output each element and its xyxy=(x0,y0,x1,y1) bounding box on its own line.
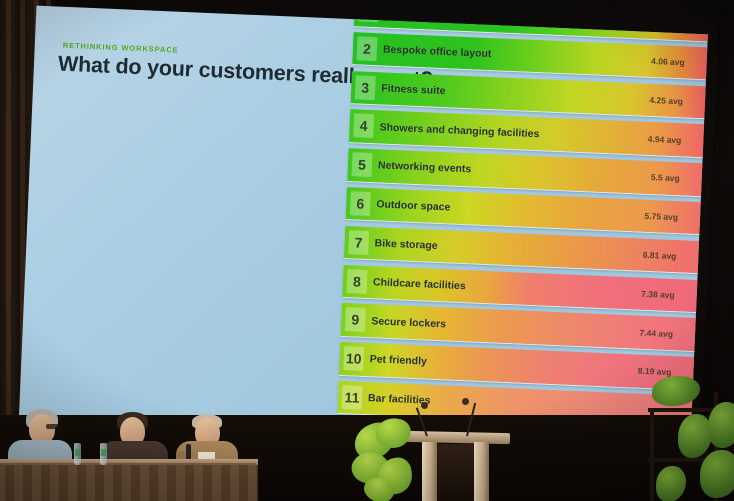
bar-category-label: Fitness suite xyxy=(381,72,447,107)
bar-category-label: Secure lockers xyxy=(371,305,447,341)
bar-rank-badge: 1 xyxy=(358,6,379,23)
bar-rank-badge: 7 xyxy=(348,230,369,255)
bar-rank-badge: 9 xyxy=(345,307,366,332)
bar-value-label xyxy=(669,395,670,427)
bar-value-label: 7.38 avg xyxy=(640,277,675,311)
projection-screen: RETHINKING WORKSPACE What do your custom… xyxy=(0,0,719,470)
slide-surface: RETHINKING WORKSPACE What do your custom… xyxy=(18,6,708,468)
bar-rank-badge: 4 xyxy=(353,114,374,139)
bar-rank-badge: 8 xyxy=(347,269,368,294)
bar-value-label: 5.75 avg xyxy=(644,200,679,234)
bar-category-label: Outdoor space xyxy=(376,188,451,224)
bar-category-label: Bar facilities xyxy=(367,382,431,417)
screenshot-root: RETHINKING WORKSPACE What do your custom… xyxy=(0,0,734,501)
bar-row-divider xyxy=(337,415,695,428)
bar-value-label: 7.44 avg xyxy=(639,316,674,350)
bar-value-label: 6.81 avg xyxy=(642,239,677,273)
bar-rank-badge: 6 xyxy=(350,191,371,216)
bar-value-label: 8.19 avg xyxy=(637,355,672,389)
bar-rank-badge: 5 xyxy=(351,152,372,177)
bar-rank-badge: 11 xyxy=(342,385,363,410)
bar-rank-badge: 3 xyxy=(355,75,376,100)
bar-category-label: Pet friendly xyxy=(369,343,428,378)
bar-value-label: 4.25 avg xyxy=(649,83,684,117)
bar-value-label: 3.25 avg xyxy=(652,6,687,40)
bar-category-label: Networking events xyxy=(377,150,472,186)
bar-value-label: 5.5 avg xyxy=(650,161,680,195)
bar-rank-badge: 10 xyxy=(343,346,364,371)
bar-rank-badge: 2 xyxy=(356,36,377,61)
bar-category-label: 24 hour access xyxy=(384,6,461,31)
bar-category-label: Bespoke office layout xyxy=(382,33,492,70)
bar-category-label: Bike storage xyxy=(374,227,438,262)
bar-category-label: Childcare facilities xyxy=(372,266,466,302)
chart-bar-row: 11Bar facilities xyxy=(337,381,696,429)
bar-category-label: Showers and changing facilities xyxy=(379,111,540,150)
ranked-bar-chart: 124 hour access3.25 avg2Bespoke office l… xyxy=(337,6,708,435)
bar-value-label: 4.06 avg xyxy=(650,45,685,79)
bar-value-label: 4.94 avg xyxy=(647,122,682,156)
